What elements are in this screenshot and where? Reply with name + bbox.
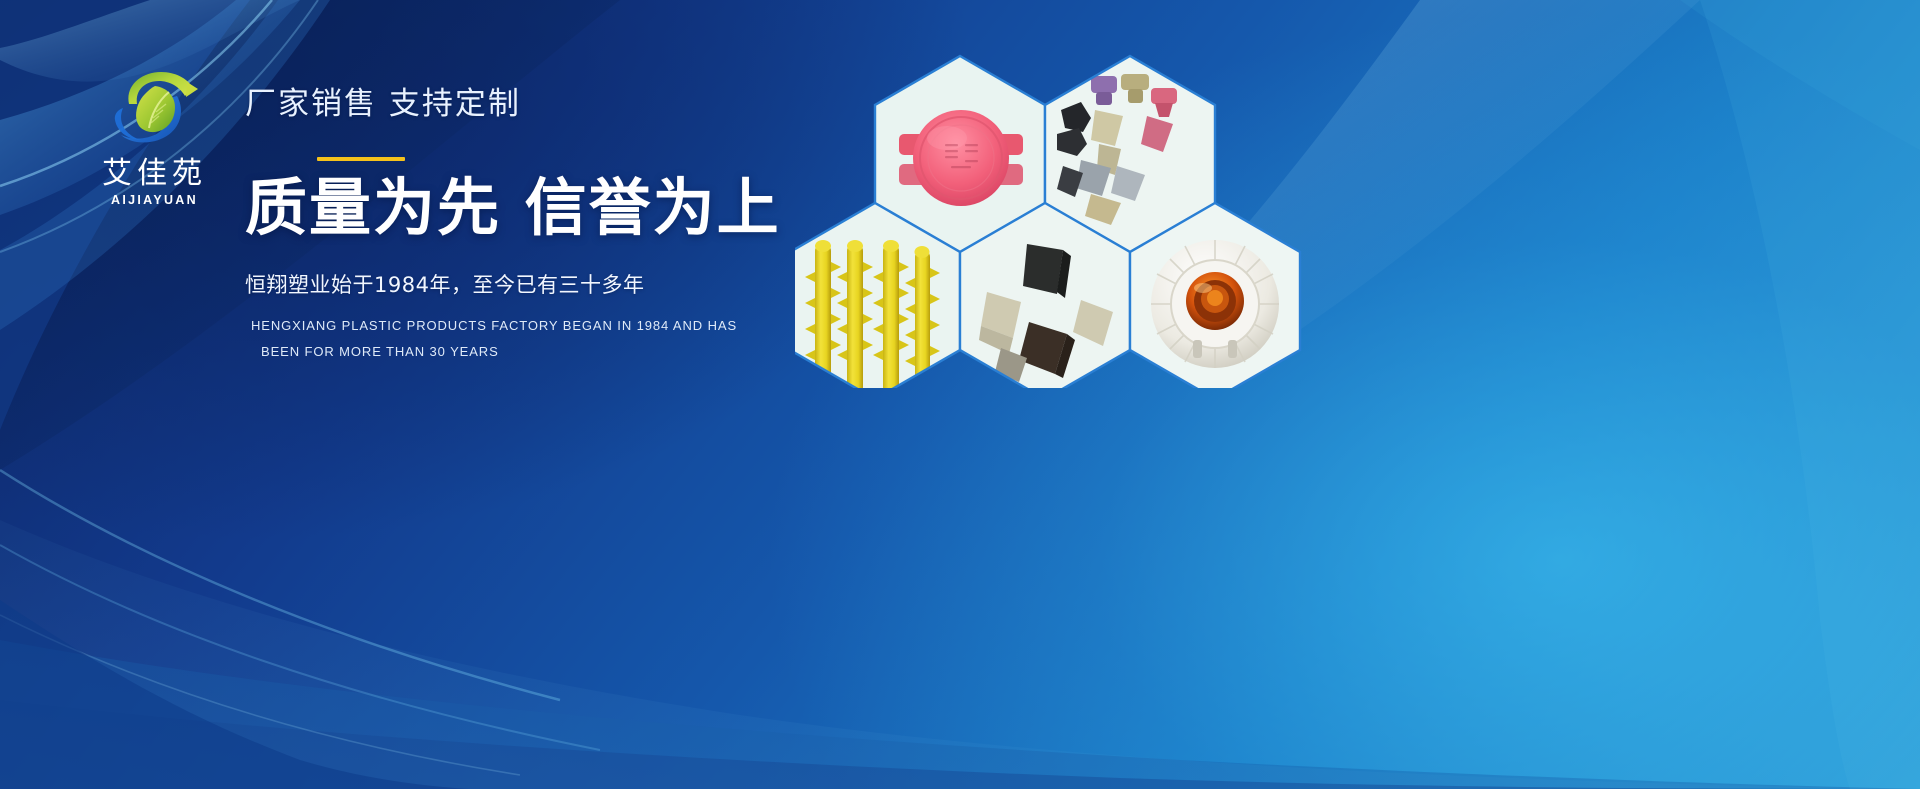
arc-line-5 <box>0 615 520 775</box>
brand-logo[interactable]: 艾佳苑 AIJIAYUAN <box>72 52 237 207</box>
gold-divider <box>317 157 405 161</box>
arc-line-4 <box>0 545 600 750</box>
fin-bottomleft <box>0 600 470 789</box>
ribbon-bottom-2 <box>0 700 1920 789</box>
ribbon-bottom-3 <box>0 520 1920 789</box>
hero-banner: 艾佳苑 AIJIAYUAN 厂家销售 支持定制 质量为先 信誉为上 恒翔塑业始于… <box>0 0 1920 789</box>
arrow-head-green <box>186 82 198 97</box>
glow-right-edge <box>1700 0 1920 789</box>
leaf-swoosh-emblem-icon <box>99 52 211 156</box>
logo-company-name-en: AIJIAYUAN <box>111 193 198 207</box>
corner-glow-topright <box>1680 0 1920 150</box>
product-hexagon-cluster <box>795 48 1315 388</box>
logo-company-name-cn: 艾佳苑 <box>102 158 207 190</box>
ribbon-bottom-1 <box>0 640 1920 789</box>
arc-line-3 <box>0 470 560 700</box>
